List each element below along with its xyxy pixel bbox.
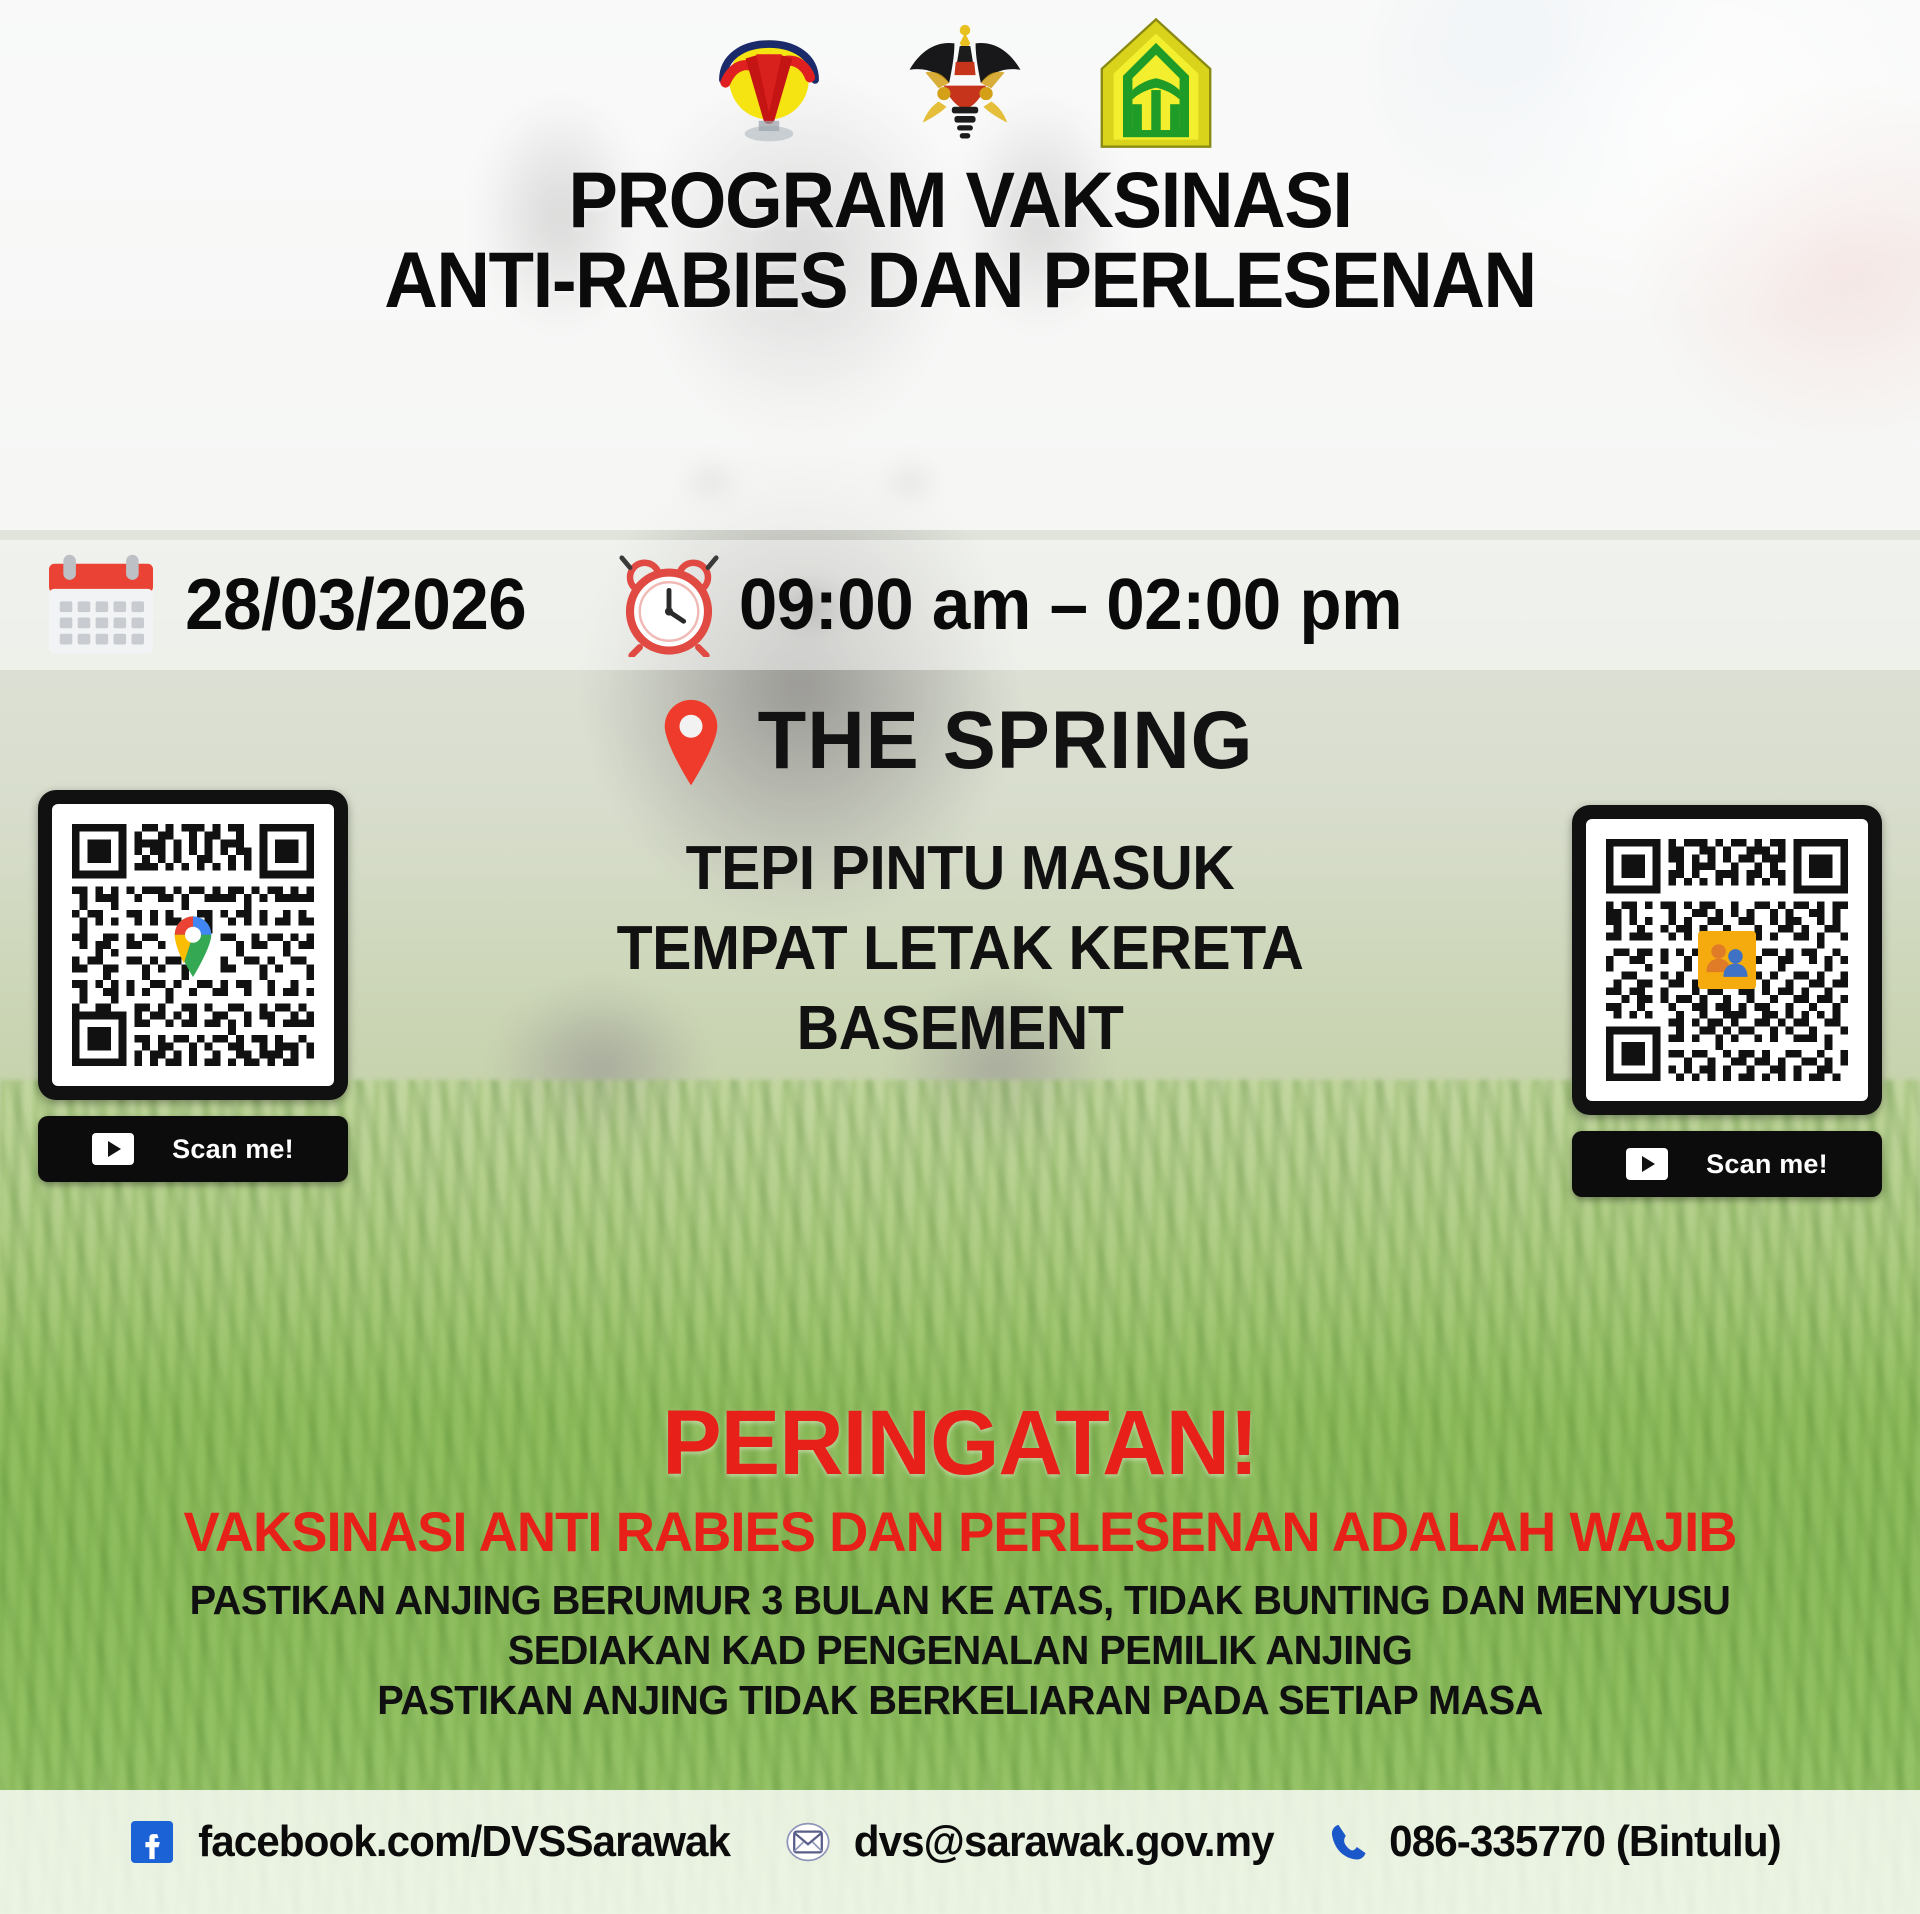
warning-heading: PERINGATAN! — [29, 1395, 1891, 1491]
envelope-icon — [785, 1822, 831, 1862]
warning-subheading: VAKSINASI ANTI RABIES DAN PERLESENAN ADA… — [29, 1501, 1891, 1563]
qr-inner-right — [1586, 819, 1868, 1101]
mpb-green-badge-logo — [1097, 17, 1215, 149]
scan-me-label-left: Scan me! — [172, 1134, 294, 1165]
email-contact[interactable]: dvs@sarawak.gov.my — [785, 1818, 1282, 1866]
scan-play-icon — [1626, 1148, 1668, 1180]
calendar-icon — [42, 553, 160, 657]
qr-inner-left — [52, 804, 334, 1086]
warning-line: SEDIAKAN KAD PENGENALAN PEMILIK ANJING — [29, 1625, 1891, 1675]
warning-line: PASTIKAN ANJING BERUMUR 3 BULAN KE ATAS,… — [29, 1575, 1891, 1625]
phone-icon — [1327, 1821, 1367, 1863]
map-pin-icon — [658, 695, 724, 787]
phone-contact[interactable]: 086-335770 (Bintulu) — [1327, 1818, 1789, 1866]
title-line-2: ANTI-RABIES DAN PERLESENAN — [58, 240, 1863, 320]
time-item: 09:00 am – 02:00 pm — [617, 553, 1416, 657]
venue-block: THE SPRING TEPI PINTU MASUK TEMPAT LETAK… — [380, 675, 1540, 1069]
date-item: 28/03/2026 — [42, 553, 533, 657]
venue-address-line-1: TEPI PINTU MASUK — [409, 829, 1511, 909]
vaccination-poster: PROGRAM VAKSINASI ANTI-RABIES DAN PERLES… — [0, 0, 1920, 1914]
qr-frame-right — [1572, 805, 1882, 1115]
venue-address-line-3: BASEMENT — [409, 989, 1511, 1069]
venue-heading: THE SPRING — [380, 695, 1540, 787]
logo-row — [0, 14, 1920, 149]
dvs-sarawak-logo — [705, 21, 833, 149]
warning-section: PERINGATAN! VAKSINASI ANTI RABIES DAN PE… — [0, 1395, 1920, 1725]
venue-name: THE SPRING — [758, 699, 1254, 783]
sarawak-coat-of-arms-logo — [899, 17, 1031, 149]
venue-address-line-2: TEMPAT LETAK KERETA — [409, 909, 1511, 989]
scan-me-button-right[interactable]: Scan me! — [1572, 1131, 1882, 1197]
registration-qr-card[interactable]: Scan me! — [1572, 805, 1882, 1197]
google-maps-qr-card[interactable]: Scan me! — [38, 790, 348, 1182]
warning-line: PASTIKAN ANJING TIDAK BERKELIARAN PADA S… — [29, 1675, 1891, 1725]
venue-address: TEPI PINTU MASUK TEMPAT LETAK KERETA BAS… — [409, 829, 1511, 1069]
event-date: 28/03/2026 — [185, 569, 526, 641]
poster-title: PROGRAM VAKSINASI ANTI-RABIES DAN PERLES… — [0, 160, 1920, 320]
venue-and-qr-section: Scan me! THE SPRING TEPI PINTU MASUK TEM… — [0, 675, 1920, 1395]
orange-people-icon — [1698, 931, 1756, 989]
facebook-contact[interactable]: facebook.com/DVSSarawak — [131, 1818, 741, 1866]
qr-frame-left — [38, 790, 348, 1100]
alarm-clock-icon — [617, 553, 721, 657]
facebook-handle: facebook.com/DVSSarawak — [198, 1818, 730, 1866]
footer-contact-row: facebook.com/DVSSarawak dvs@sarawak.gov.… — [0, 1818, 1920, 1866]
email-address: dvs@sarawak.gov.my — [854, 1818, 1274, 1866]
scan-me-label-right: Scan me! — [1706, 1149, 1828, 1180]
title-line-1: PROGRAM VAKSINASI — [58, 160, 1863, 240]
phone-number: 086-335770 (Bintulu) — [1389, 1818, 1781, 1866]
scan-me-button-left[interactable]: Scan me! — [38, 1116, 348, 1182]
datetime-row: 28/03/2026 09:00 am – 02:00 pm — [0, 545, 1920, 665]
event-time: 09:00 am – 02:00 pm — [739, 569, 1402, 641]
facebook-icon — [131, 1821, 173, 1863]
warning-line-list: PASTIKAN ANJING BERUMUR 3 BULAN KE ATAS,… — [0, 1575, 1920, 1725]
google-maps-pin-icon — [161, 913, 225, 977]
scan-play-icon — [92, 1133, 134, 1165]
